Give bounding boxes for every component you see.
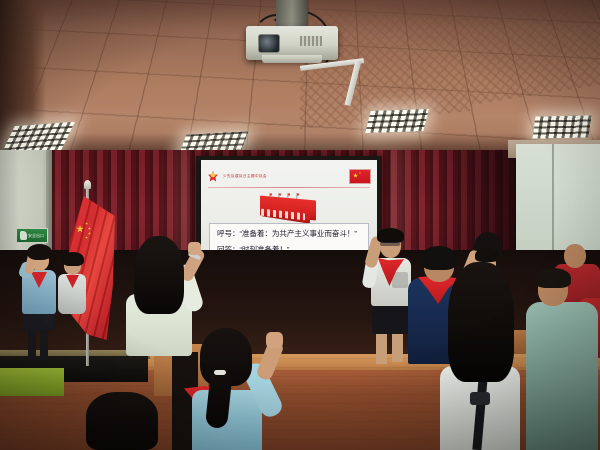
young-pioneers-torch-emblem-icon (207, 170, 219, 183)
slide-banner-graphic (257, 193, 319, 221)
girl-ponytail-foreground (178, 328, 298, 450)
flag-pole-finial (84, 180, 91, 189)
slide-header: 少先队建队日主题中队会 (207, 168, 371, 185)
hair (448, 262, 514, 382)
hair (86, 392, 158, 450)
hair (377, 228, 404, 243)
slide-header-divider (208, 187, 370, 188)
exit-sign-label: 安全出口 (28, 234, 44, 238)
head (564, 244, 586, 268)
leg-right (392, 332, 403, 362)
chinese-flag-icon (349, 169, 371, 184)
skirt (23, 312, 55, 330)
hand (188, 242, 201, 255)
emergency-exit-sign: 安全出口 (16, 228, 48, 243)
hair (535, 268, 571, 288)
hand (266, 332, 283, 348)
running-person-icon (20, 231, 27, 240)
student-saluting-left (14, 242, 66, 364)
recessed-grid-light-4 (532, 116, 591, 139)
child-foreground-bottom (86, 392, 182, 450)
hair-tie (214, 370, 226, 375)
projector-base-plate (262, 55, 322, 63)
projector-lens-icon (258, 34, 280, 53)
green-panel-foreground (0, 368, 64, 396)
flag-stars-icon (76, 222, 94, 240)
projector-vent (300, 36, 322, 46)
leg-left (28, 328, 36, 360)
slide-line-call: 呼号：“准备着：为共产主义事业而奋斗！” (217, 230, 361, 238)
photo-scene: 安全出口 少先队建队日主题中队会 呼号：“准备着：为共产主义事业而奋斗！” 回答… (0, 0, 600, 450)
leg-right (40, 328, 48, 360)
torso (526, 302, 598, 450)
hair (27, 244, 52, 260)
projector-ceiling-mount (276, 0, 308, 28)
bag-buckle (470, 392, 490, 405)
slide-header-title: 少先队建队日主题中队会 (223, 175, 267, 179)
recessed-grid-light-3 (365, 109, 428, 133)
leg-left (376, 332, 387, 364)
hair (475, 248, 499, 262)
hair (134, 236, 184, 314)
woman-long-hair-right (432, 262, 536, 450)
glasses-icon (380, 242, 400, 246)
